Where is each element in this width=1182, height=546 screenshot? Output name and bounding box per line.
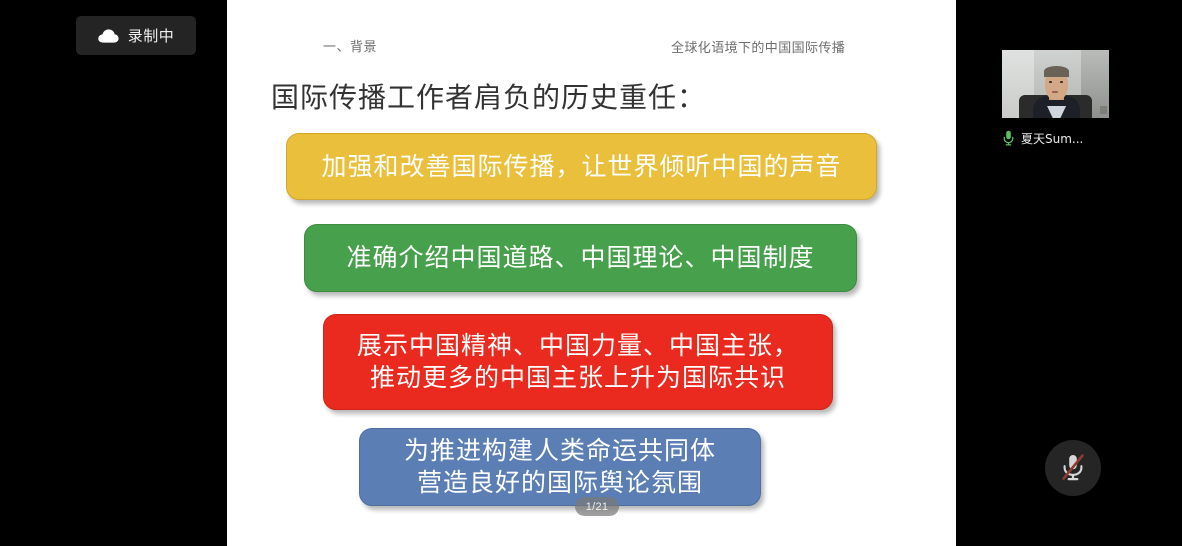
shared-slide[interactable]: 一、背景 全球化语境下的中国国际传播 国际传播工作者肩负的历史重任： 加强和改善… — [227, 0, 956, 546]
meeting-screen-share-view: 录制中 一、背景 全球化语境下的中国国际传播 国际传播工作者肩负的历史重任： 加… — [0, 0, 1182, 546]
video-corner-marker — [1100, 106, 1107, 114]
slide-box-green-line-1: 准确介绍中国道路、中国理论、中国制度 — [346, 242, 814, 274]
slide-box-blue-line-1: 为推进构建人类命运共同体 — [404, 435, 716, 467]
slide-box-red-line-1: 展示中国精神、中国力量、中国主张， — [357, 330, 799, 362]
slide-box-green: 准确介绍中国道路、中国理论、中国制度 — [304, 224, 857, 292]
cloud-icon — [98, 29, 119, 43]
slide-header-left: 一、背景 — [323, 36, 377, 55]
participant-name: 夏天Sum... — [1021, 130, 1083, 147]
slide-box-blue-line-2: 营造良好的国际舆论氛围 — [404, 467, 716, 499]
microphone-on-icon — [1002, 130, 1015, 146]
slide-box-red-line-2: 推动更多的中国主张上升为国际共识 — [357, 362, 799, 394]
participant-video-tile[interactable] — [1002, 50, 1109, 118]
slide-box-yellow-line-1: 加强和改善国际传播，让世界倾听中国的声音 — [321, 151, 841, 183]
slide-box-blue: 为推进构建人类命运共同体 营造良好的国际舆论氛围 — [359, 428, 761, 506]
participant-name-row: 夏天Sum... — [1002, 129, 1114, 147]
page-indicator: 1/21 — [575, 497, 619, 516]
slide-box-red: 展示中国精神、中国力量、中国主张， 推动更多的中国主张上升为国际共识 — [323, 314, 833, 410]
video-person-eye-left — [1049, 81, 1052, 83]
video-person-eye-right — [1060, 81, 1063, 83]
microphone-muted-icon — [1059, 453, 1087, 483]
slide-box-yellow: 加强和改善国际传播，让世界倾听中国的声音 — [286, 133, 877, 200]
recording-badge: 录制中 — [76, 16, 196, 55]
mute-microphone-button[interactable] — [1045, 440, 1101, 496]
recording-label: 录制中 — [128, 25, 175, 46]
slide-header: 一、背景 全球化语境下的中国国际传播 — [227, 36, 956, 58]
video-person-hair — [1044, 66, 1070, 77]
slide-title: 国际传播工作者肩负的历史重任： — [271, 76, 706, 116]
slide-header-right: 全球化语境下的中国国际传播 — [671, 37, 845, 56]
